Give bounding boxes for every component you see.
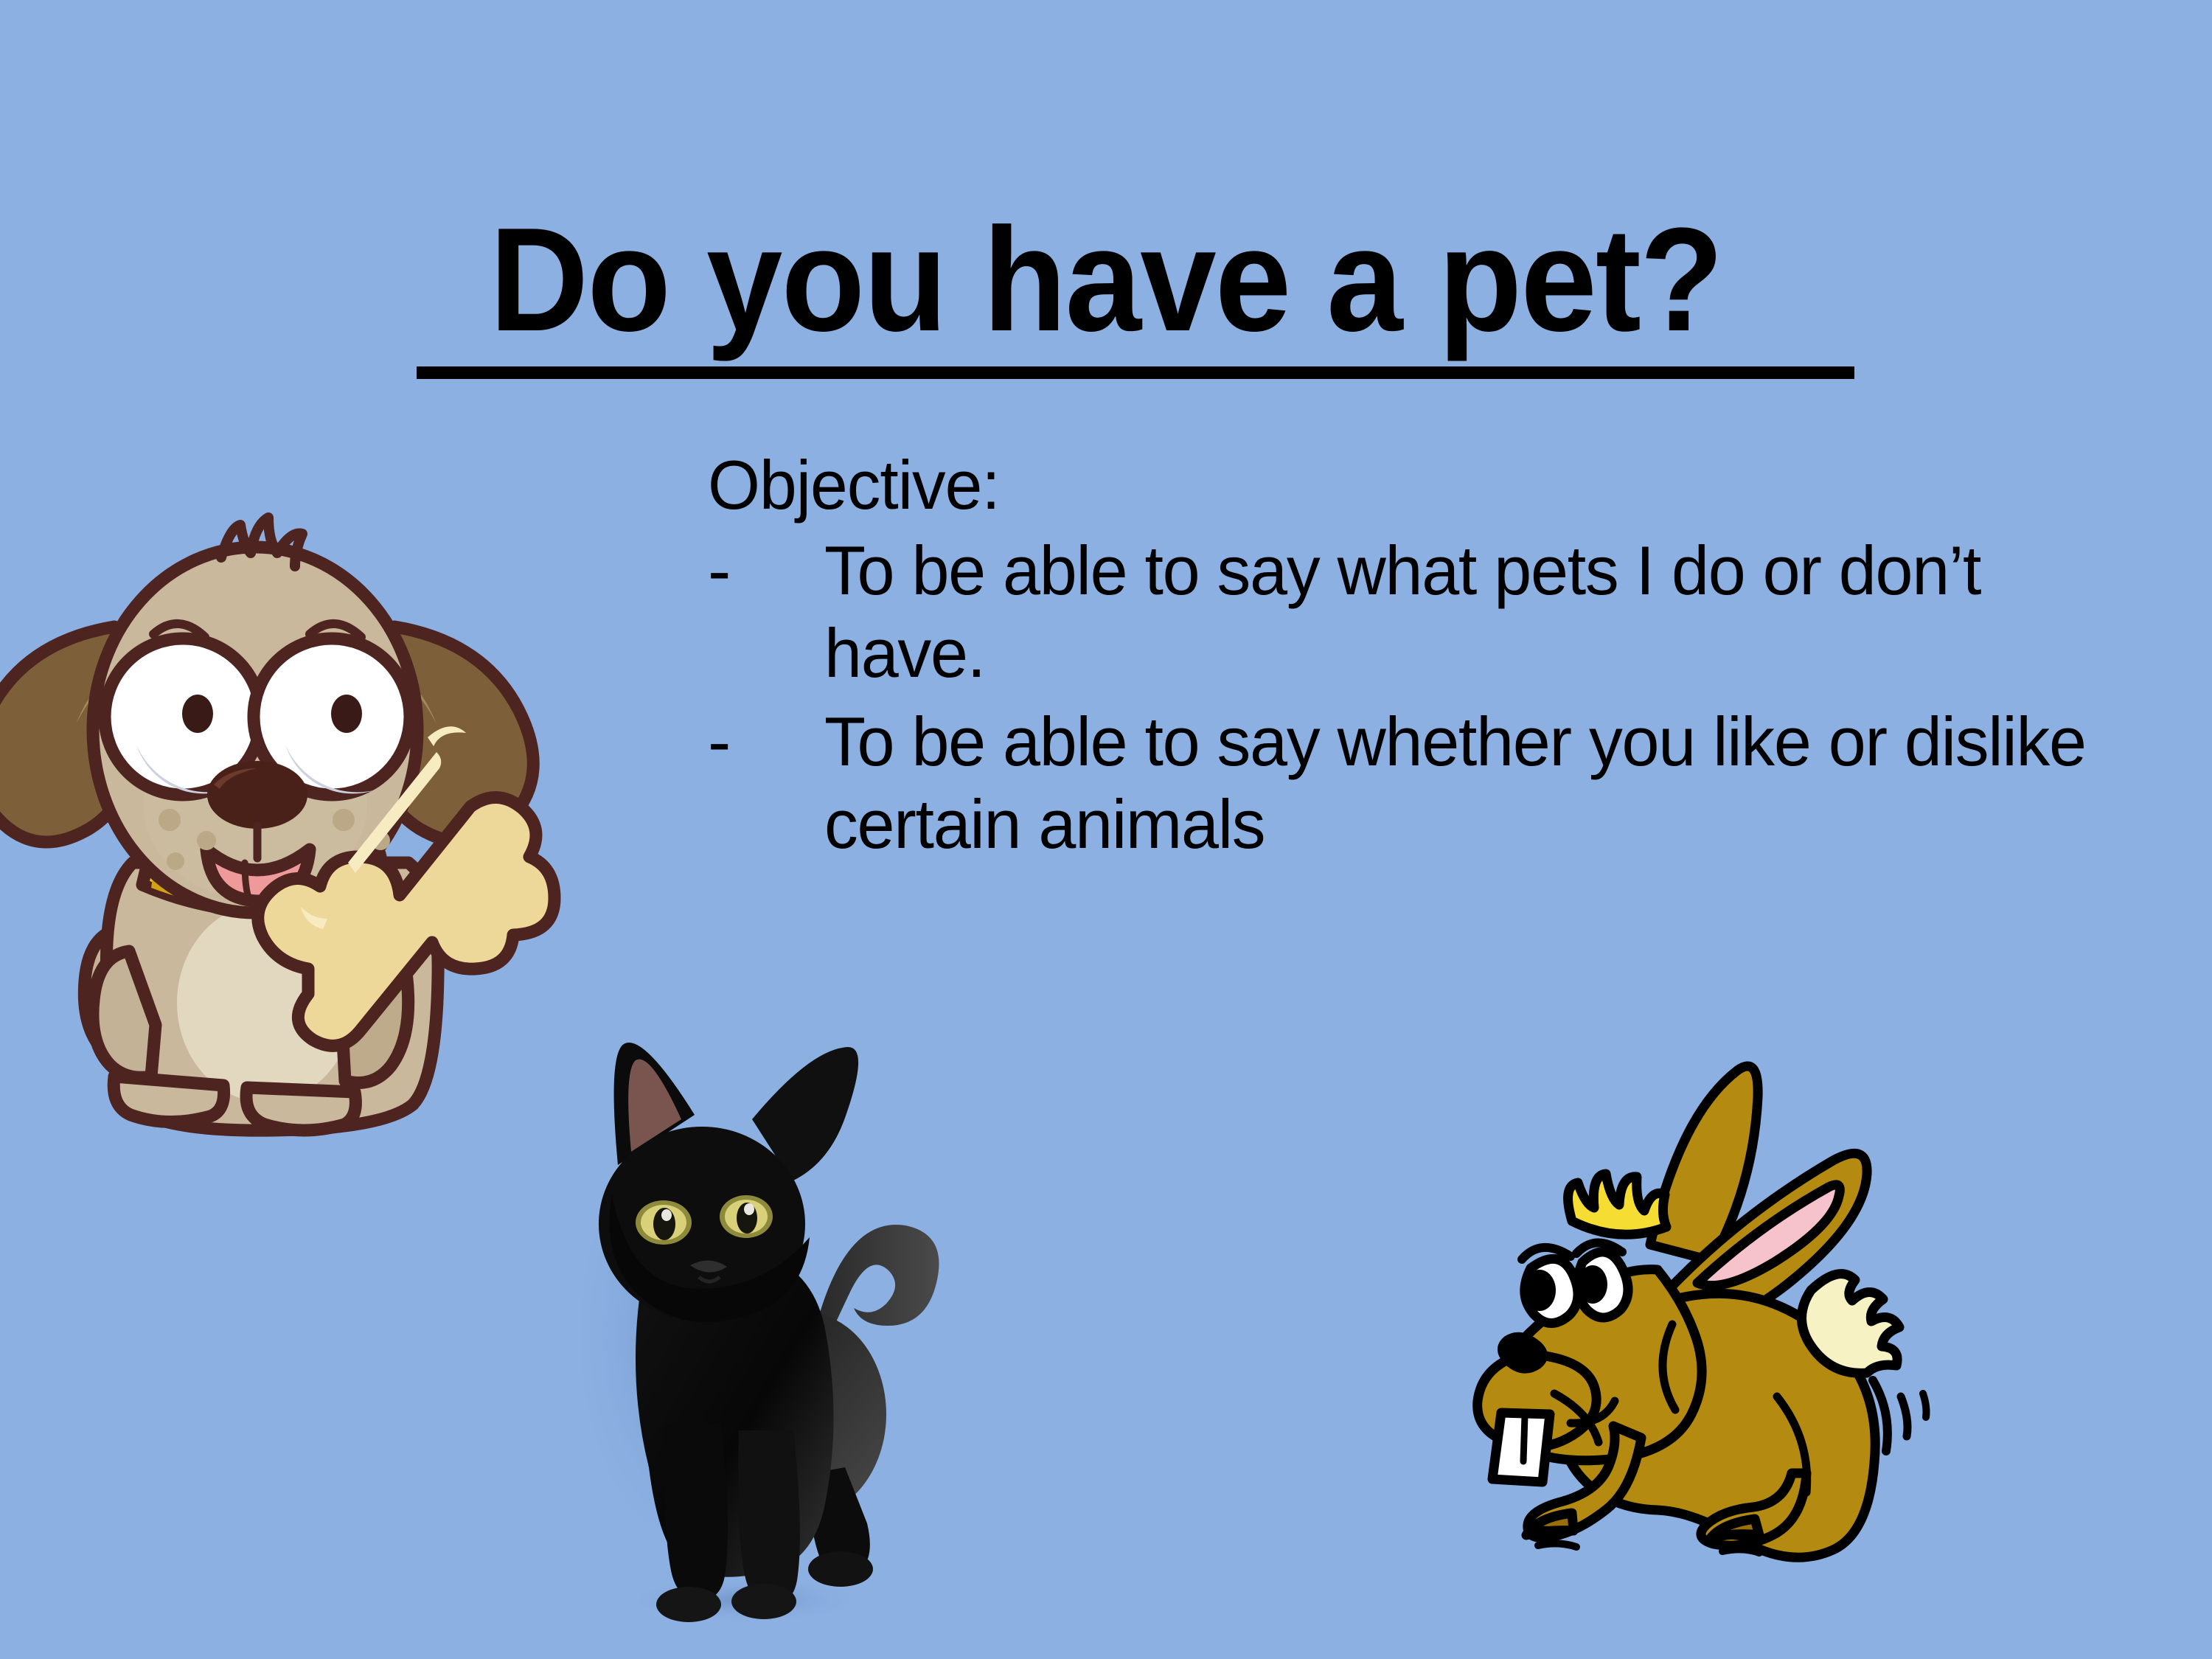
- title-block: Do you have a pet?: [0, 206, 2212, 354]
- objective-list-item: - To be able to say whether you like or …: [708, 700, 2153, 866]
- objective-item-text: To be able to say what pets I do or don’…: [824, 529, 2120, 695]
- objective-item-text: To be able to say whether you like or di…: [824, 700, 2120, 866]
- objective-list-item: - To be able to say what pets I do or do…: [708, 529, 2153, 695]
- dog-illustration: [0, 516, 568, 1128]
- rabbit-illustration: [1460, 1047, 1961, 1607]
- bullet-dash-icon: -: [708, 529, 824, 612]
- cat-eye: [636, 1200, 692, 1245]
- page-title: Do you have a pet?: [490, 206, 1722, 354]
- objective-block: Objective: - To be able to say what pets…: [708, 446, 2153, 866]
- cat-eye: [720, 1195, 773, 1238]
- slide-canvas: Do you have a pet? Objective: - To be ab…: [0, 0, 2212, 1659]
- bullet-dash-icon: -: [708, 700, 824, 783]
- objective-heading: Objective:: [708, 446, 2110, 524]
- title-underline: [417, 366, 1854, 379]
- cat-illustration: [531, 1040, 973, 1630]
